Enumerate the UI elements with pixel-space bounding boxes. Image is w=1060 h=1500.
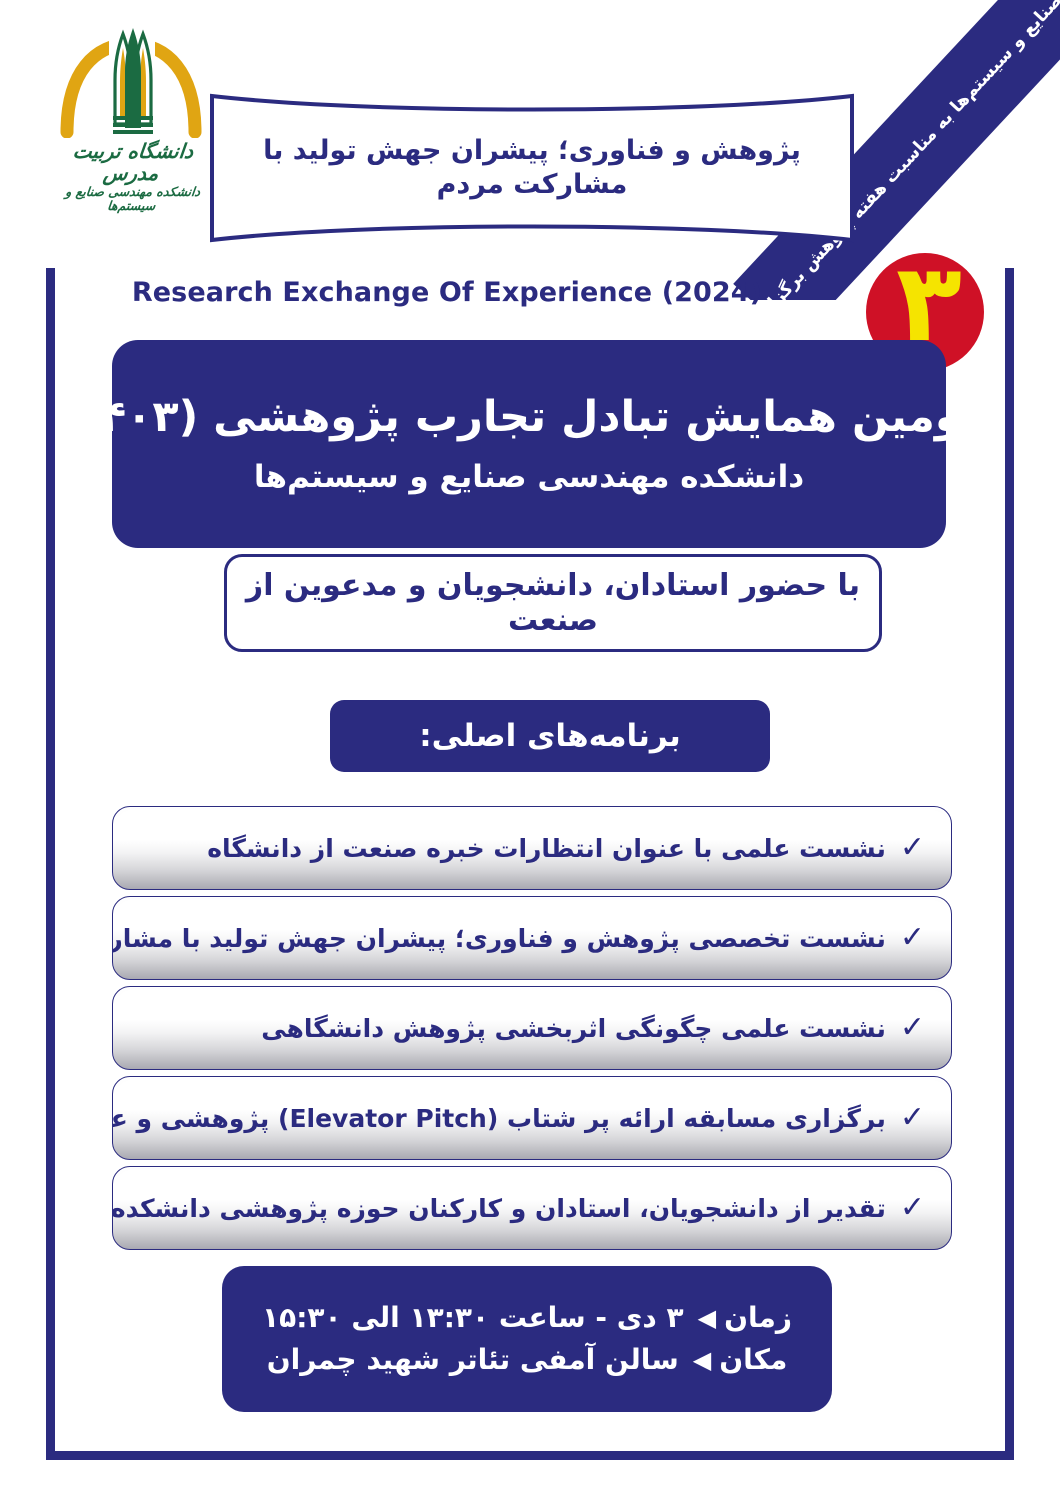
programs-section-header: برنامه‌های اصلی: <box>330 700 770 772</box>
arrow-left-icon: ◀ <box>693 1342 711 1378</box>
university-logo: دانشگاه تربیت مدرس دانشکده مهندسی صنایع … <box>42 28 222 224</box>
event-info-box: زمان ◀ ۳ دی - ساعت ۱۳:۳۰ الی ۱۵:۳۰ مکان … <box>222 1266 832 1412</box>
logo-faculty-name: دانشکده مهندسی صنایع و سیستم‌ها <box>40 185 223 214</box>
slogan-banner-text: پژوهش و فناوری؛ پیشران جهش تولید با مشار… <box>208 92 856 244</box>
audience-text: با حضور استادان، دانشجویان و مدعوین از ص… <box>227 568 879 638</box>
list-item: ✓ نشست علمی با عنوان انتظارات خبره صنعت … <box>112 806 952 890</box>
list-item-label: برگزاری مسابقه ارائه پر شتاب (Elevator P… <box>112 1104 886 1133</box>
event-place-label: مکان <box>719 1339 787 1381</box>
logo-university-name: دانشگاه تربیت مدرس <box>40 140 225 184</box>
check-icon: ✓ <box>900 1193 925 1223</box>
main-subtitle: دانشکده مهندسی صنایع و سیستم‌ها <box>254 459 804 495</box>
list-item-label: نشست علمی چگونگی اثربخشی پژوهش دانشگاهی <box>261 1014 886 1043</box>
event-time-label: زمان <box>724 1297 792 1339</box>
audience-box: با حضور استادان، دانشجویان و مدعوین از ص… <box>224 554 882 652</box>
list-item: ✓ تقدیر از دانشجویان، استادان و کارکنان … <box>112 1166 952 1250</box>
edition-badge-number: ۳ <box>884 250 974 410</box>
programs-list: ✓ نشست علمی با عنوان انتظارات خبره صنعت … <box>112 806 952 1256</box>
list-item-label: نشست علمی با عنوان انتظارات خبره صنعت از… <box>207 834 886 863</box>
programs-section-title: برنامه‌های اصلی: <box>419 718 681 754</box>
list-item: ✓ نشست علمی چگونگی اثربخشی پژوهش دانشگاه… <box>112 986 952 1070</box>
check-icon: ✓ <box>900 1013 925 1043</box>
event-time-line: زمان ◀ ۳ دی - ساعت ۱۳:۳۰ الی ۱۵:۳۰ <box>262 1297 792 1339</box>
check-icon: ✓ <box>900 833 925 863</box>
list-item-label: تقدیر از دانشجویان، استادان و کارکنان حو… <box>112 1194 886 1223</box>
arrow-left-icon: ◀ <box>698 1300 716 1336</box>
poster-root: دانشگاه تربیت مدرس دانشکده مهندسی صنایع … <box>0 0 1060 1500</box>
event-time-value: ۳ دی - ساعت ۱۳:۳۰ الی ۱۵:۳۰ <box>262 1297 690 1339</box>
main-title-box: سومین همایش تبادل تجارب پژوهشی (۱۴۰۳) دا… <box>112 340 946 548</box>
list-item-label: نشست تخصصی پژوهش و فناوری؛ پیشران جهش تو… <box>112 924 886 953</box>
list-item: ✓ نشست تخصصی پژوهش و فناوری؛ پیشران جهش … <box>112 896 952 980</box>
check-icon: ✓ <box>900 923 925 953</box>
main-title: سومین همایش تبادل تجارب پژوهشی (۱۴۰۳) <box>54 391 1004 443</box>
english-title: Research Exchange Of Experience (2024) <box>0 277 894 308</box>
event-place-value: سالن آمفی تئاتر شهید چمران <box>267 1339 685 1381</box>
slogan-banner: پژوهش و فناوری؛ پیشران جهش تولید با مشار… <box>208 92 856 244</box>
check-icon: ✓ <box>900 1103 925 1133</box>
tarbiat-modares-logo-icon <box>57 28 207 138</box>
event-place-line: مکان ◀ سالن آمفی تئاتر شهید چمران <box>267 1339 788 1381</box>
list-item: ✓ برگزاری مسابقه ارائه پر شتاب (Elevator… <box>112 1076 952 1160</box>
